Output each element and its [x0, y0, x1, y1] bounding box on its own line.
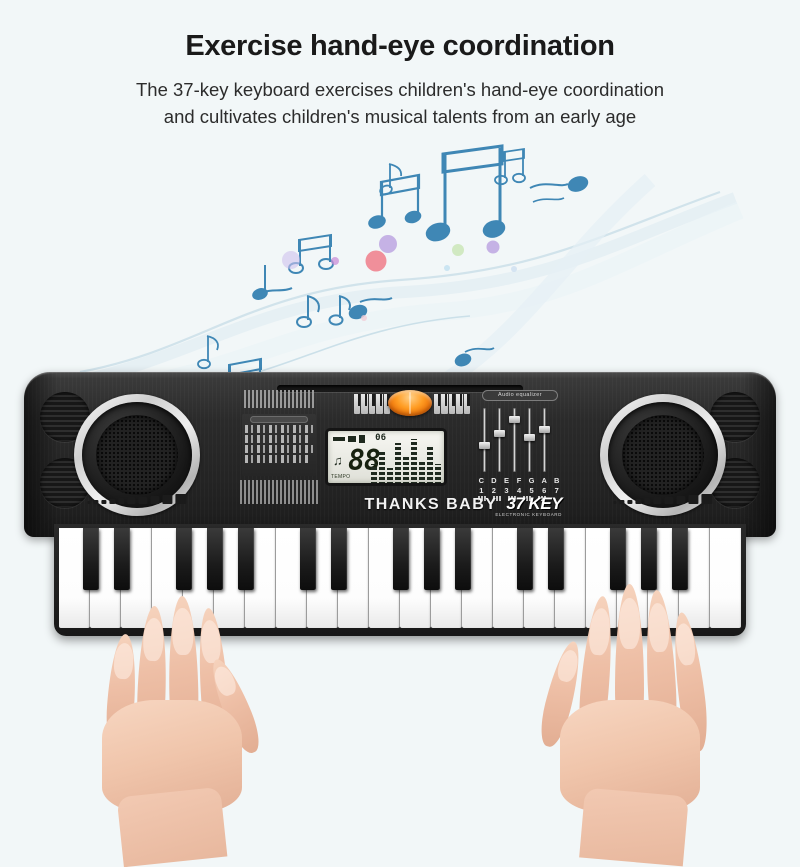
- song-list-title-pill: [250, 416, 308, 423]
- wrist: [579, 788, 689, 867]
- song-row: [245, 425, 315, 433]
- header-block: Exercise hand-eye coordination The 37-ke…: [0, 0, 800, 131]
- lcd-indicator-icons: [333, 435, 365, 443]
- speaker-cone: [82, 402, 192, 508]
- black-key[interactable]: [610, 528, 626, 590]
- subtitle-line-2: and cultivates children's musical talent…: [0, 104, 800, 131]
- tick-mark: [688, 495, 698, 504]
- left-hand: [78, 582, 308, 812]
- black-key[interactable]: [300, 528, 316, 590]
- tick-mark: [613, 501, 616, 504]
- black-key[interactable]: [83, 528, 99, 590]
- speaker-grille: [622, 415, 704, 495]
- tick-mark: [665, 497, 674, 505]
- black-key[interactable]: [517, 528, 533, 590]
- right-hand: [520, 582, 750, 812]
- tick-mark: [109, 499, 115, 504]
- tick-mark: [627, 500, 632, 505]
- lcd-bar: [427, 447, 433, 485]
- note-letter: F: [516, 476, 523, 485]
- song-row: [245, 455, 308, 463]
- black-key[interactable]: [641, 528, 657, 590]
- equalizer-slider[interactable]: [480, 408, 489, 472]
- lcd-tempo-label: TEMPO: [331, 474, 350, 480]
- tick-mark: [128, 497, 136, 504]
- lcd-bar: [411, 439, 417, 485]
- note-letter: E: [503, 476, 510, 485]
- equalizer-slider[interactable]: [495, 408, 504, 472]
- lcd-display: 06 ♫ 88 TEMPO: [325, 428, 447, 486]
- tick-mark: [101, 500, 106, 505]
- equalizer-label: Audio equalizer: [482, 390, 558, 401]
- slider-knob[interactable]: [539, 426, 550, 433]
- note-letter: D: [491, 476, 498, 485]
- slider-knob[interactable]: [479, 442, 490, 449]
- slider-knob[interactable]: [494, 430, 505, 437]
- tick-mark: [702, 494, 713, 504]
- equalizer-slider[interactable]: [525, 408, 534, 472]
- control-panel: 06 ♫ 88 TEMPO Audio equalizer CDEFGAB 12…: [236, 388, 564, 524]
- black-key[interactable]: [176, 528, 192, 590]
- key-count-logo: 37 KEY ELECTRONIC KEYBOARD: [495, 494, 562, 517]
- speaker-right: [588, 386, 764, 522]
- waveform-graphic-icon: [244, 390, 316, 408]
- speaker-chrome-ring: [74, 394, 200, 516]
- note-letter: A: [541, 476, 548, 485]
- note-letter-labels: CDEFGAB: [478, 476, 560, 485]
- brand-name: THANKS BABY: [351, 496, 511, 514]
- lcd-bar: [371, 464, 377, 485]
- equalizer-sliders[interactable]: [480, 408, 549, 472]
- lcd-bar: [395, 443, 401, 485]
- lcd-bar: [387, 468, 393, 485]
- black-key[interactable]: [114, 528, 130, 590]
- note-letter: B: [553, 476, 560, 485]
- page-subtitle: The 37-key keyboard exercises children's…: [0, 77, 800, 131]
- black-key[interactable]: [238, 528, 254, 590]
- slider-knob[interactable]: [509, 416, 520, 423]
- demo-button[interactable]: [388, 390, 432, 416]
- tick-mark: [176, 494, 187, 504]
- subtitle-line-1: The 37-key keyboard exercises children's…: [0, 77, 800, 104]
- song-row: [245, 435, 311, 443]
- black-key[interactable]: [548, 528, 564, 590]
- lcd-bar: [379, 451, 385, 485]
- waveform-graphic-icon: [240, 480, 320, 504]
- tick-mark: [620, 500, 624, 504]
- tick-mark: [635, 499, 641, 504]
- note-letter: C: [478, 476, 485, 485]
- tick-mark: [676, 496, 685, 504]
- tick-mark: [118, 498, 125, 504]
- speaker-grille: [96, 415, 178, 495]
- key-count-main: 37 KEY: [495, 494, 562, 514]
- music-notes-decoration: [0, 140, 800, 390]
- speaker-left: [36, 386, 212, 522]
- tick-mark: [654, 497, 662, 504]
- speaker-cone: [608, 402, 718, 508]
- speaker-chrome-ring: [600, 394, 726, 516]
- lcd-level-bars: [371, 437, 441, 485]
- lcd-bar: [403, 456, 409, 485]
- keyboard-console-body: 06 ♫ 88 TEMPO Audio equalizer CDEFGAB 12…: [24, 372, 776, 537]
- speaker-tick-marks: [87, 494, 186, 504]
- tick-mark: [139, 497, 148, 505]
- lcd-note-icon: ♫: [333, 453, 343, 468]
- wrist: [117, 787, 228, 867]
- black-key[interactable]: [331, 528, 347, 590]
- mini-piano-keys-icon: [434, 394, 470, 414]
- page-title: Exercise hand-eye coordination: [0, 30, 800, 63]
- black-key[interactable]: [393, 528, 409, 590]
- slider-knob[interactable]: [524, 434, 535, 441]
- equalizer-slider[interactable]: [540, 408, 549, 472]
- song-row: [245, 445, 313, 453]
- equalizer-section: Audio equalizer CDEFGAB 1234567: [476, 402, 562, 506]
- equalizer-slider[interactable]: [510, 408, 519, 472]
- speaker-tick-marks: [613, 494, 712, 504]
- black-key[interactable]: [207, 528, 223, 590]
- song-list-panel: [242, 414, 316, 476]
- note-letter: G: [528, 476, 535, 485]
- tick-mark: [162, 495, 172, 504]
- black-key[interactable]: [672, 528, 688, 590]
- tick-mark: [94, 500, 98, 504]
- lcd-bar: [419, 460, 425, 485]
- note-number: 1: [478, 486, 485, 495]
- tick-mark: [644, 498, 651, 504]
- mini-piano-keys-icon: [354, 394, 390, 414]
- black-key[interactable]: [455, 528, 471, 590]
- lcd-bar: [435, 464, 441, 485]
- black-key[interactable]: [424, 528, 440, 590]
- key-count-sub: ELECTRONIC KEYBOARD: [495, 512, 562, 517]
- tick-mark: [150, 496, 159, 504]
- tick-mark: [87, 501, 90, 504]
